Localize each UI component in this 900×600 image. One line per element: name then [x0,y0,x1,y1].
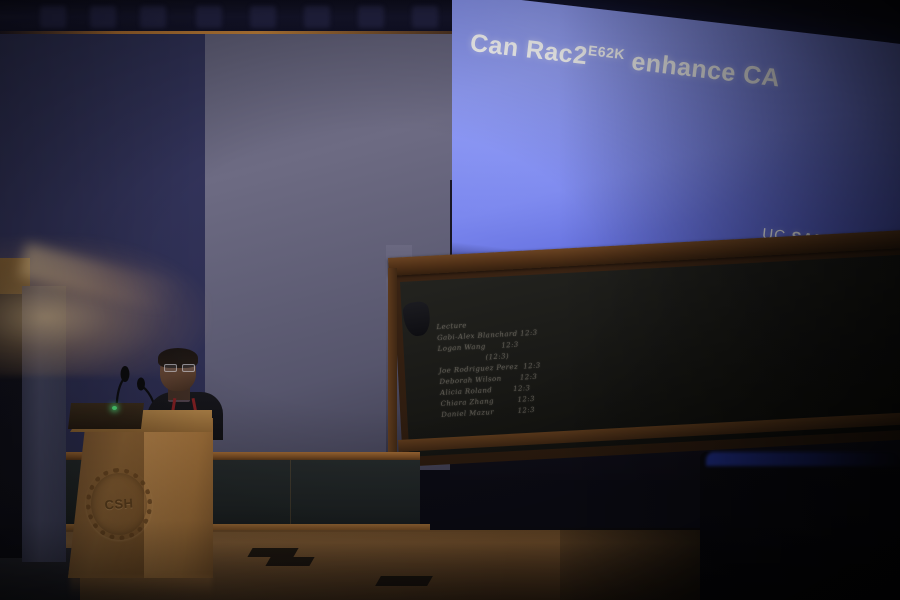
ceiling-frieze-band [0,0,470,34]
chalkboard-writing: Lecture Gabi-Alex Blanchard 12:3 Logan W… [436,317,543,421]
glasses-icon [164,364,194,370]
floor-outlet-plate [265,557,314,566]
slide-title-superscript: E62K [587,42,626,62]
floor-outlet-plate [375,576,433,586]
lecture-hall-scene: Can Rac2E62K enhance CA UC SANTA Lecture… [0,0,900,600]
furniture-edge-highlight [706,452,900,466]
podium-reading-deck [68,403,144,429]
wainscot-seam [290,460,291,532]
podium-floor-reflection [70,576,212,600]
podium-emblem-text: CSH [91,495,148,514]
floor-outlet-plate [247,548,298,557]
power-led-icon [112,406,117,410]
chalkboard-side-post [388,268,397,468]
dark-furniture [700,452,900,600]
